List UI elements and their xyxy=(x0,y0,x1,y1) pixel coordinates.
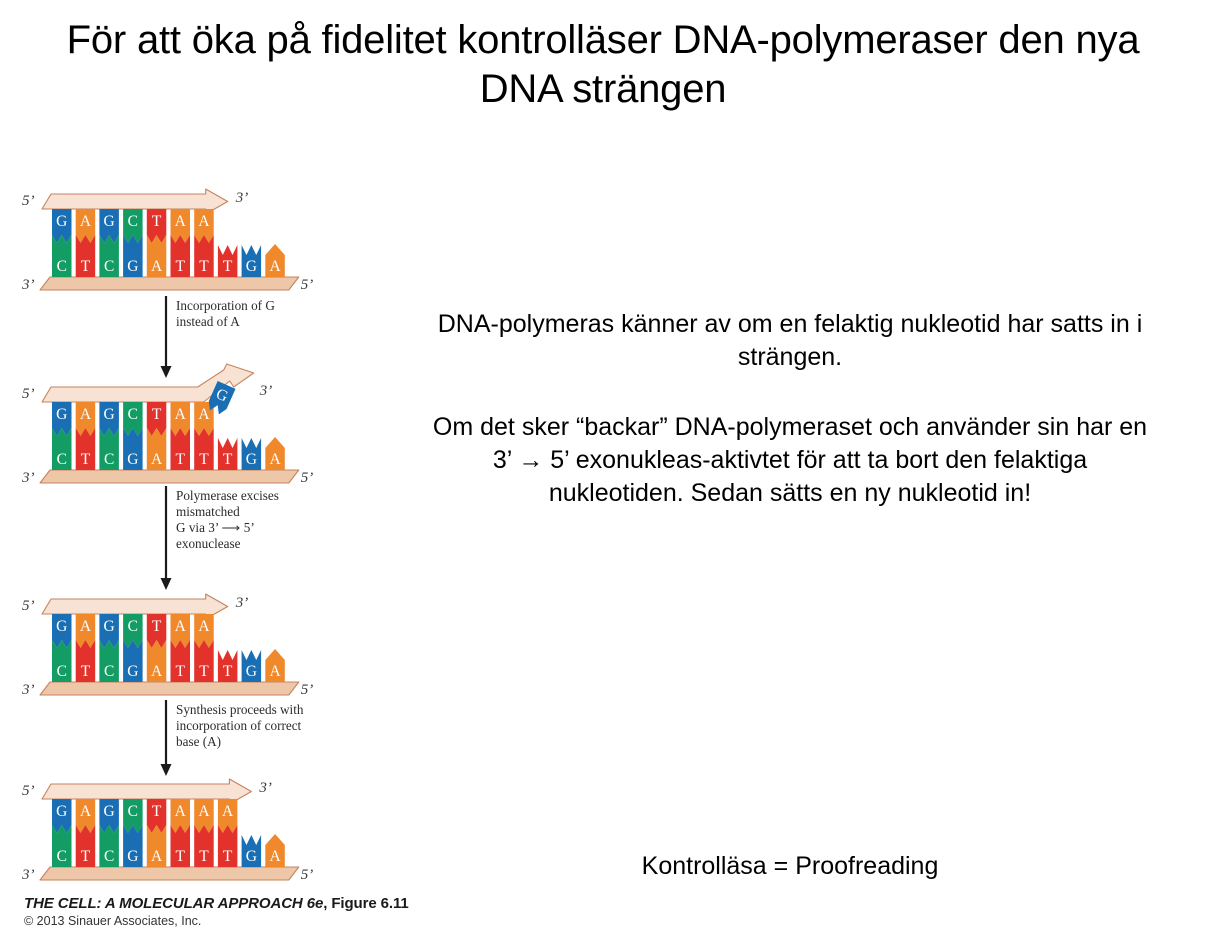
dna-base-label-a: A xyxy=(175,213,187,230)
step-arrow-head xyxy=(161,366,172,378)
dna-base-label-c: C xyxy=(104,258,114,275)
dna-base-label-a: A xyxy=(175,803,187,820)
caption-1-line-1: Incorporation of G xyxy=(176,298,275,313)
dna-base-label-a: A xyxy=(151,258,163,275)
panel-4-label-5prime-left: 5’ xyxy=(22,783,35,799)
dna-base-label-a: A xyxy=(80,618,92,635)
panel-1-label-3prime-right: 3’ xyxy=(235,190,249,206)
dna-base-label-c: C xyxy=(57,663,67,680)
dna-base-label-c: C xyxy=(57,848,67,865)
panel-1: GAGCTAACTCGATTTGA5’3’3’5’ xyxy=(21,189,313,293)
dna-base-label-g: G xyxy=(56,803,67,820)
dna-base-label-c: C xyxy=(104,848,114,865)
dna-base-label-t: T xyxy=(152,406,162,423)
step-arrow-head xyxy=(161,578,172,590)
caption-3-line-2: incorporation of correct xyxy=(176,718,302,733)
figure-credit-book: THE CELL: A MOLECULAR APPROACH 6e xyxy=(24,895,323,912)
dna-base-label-a: A xyxy=(269,451,281,468)
dna-bottom-backbone xyxy=(40,682,299,695)
panel-4-label-5prime-right: 5’ xyxy=(301,867,314,883)
dna-base-label-t: T xyxy=(152,213,162,230)
step-arrow-head xyxy=(161,764,172,776)
dna-base-label-a: A xyxy=(269,258,281,275)
dna-base-label-g: G xyxy=(246,663,257,680)
panel-2: GAGCTAACTCGATTTGAG5’3’3’5’ xyxy=(21,364,313,486)
caption-3: Synthesis proceeds withincorporation of … xyxy=(161,700,304,776)
body-text-block: DNA-polymeras känner av om en felaktig n… xyxy=(430,308,1150,510)
dna-base-label-t: T xyxy=(176,663,186,680)
panel-1-label-5prime-right: 5’ xyxy=(301,277,314,293)
body-paragraph-2: Om det sker “backar” DNA-polymeraset och… xyxy=(430,411,1150,511)
dna-base-label-c: C xyxy=(57,258,67,275)
dna-base-label-a: A xyxy=(151,451,163,468)
panel-4-label-3prime-right: 3’ xyxy=(258,780,272,796)
dna-base-label-g: G xyxy=(104,406,115,423)
dna-base-label-g: G xyxy=(127,258,138,275)
panel-2-label-5prime-right: 5’ xyxy=(301,470,314,486)
dna-base-label-a: A xyxy=(80,803,92,820)
caption-2-line-1: Polymerase excises xyxy=(176,488,279,503)
panel-2-label-5prime-left: 5’ xyxy=(22,386,35,402)
dna-proofreading-figure: GAGCTAACTCGATTTGA5’3’3’5’GAGCTAACTCGATTT… xyxy=(0,176,420,888)
panel-3-label-5prime-left: 5’ xyxy=(22,598,35,614)
dna-bottom-backbone xyxy=(40,470,299,483)
dna-base-label-t: T xyxy=(223,848,233,865)
dna-base-label-t: T xyxy=(199,451,209,468)
dna-base-label-a: A xyxy=(151,848,163,865)
panel-2-label-3prime-left: 3’ xyxy=(21,470,35,486)
dna-base-label-t: T xyxy=(152,803,162,820)
dna-base-label-a: A xyxy=(198,803,210,820)
panel-3-label-3prime-left: 3’ xyxy=(21,682,35,698)
dna-base-label-c: C xyxy=(128,618,138,635)
dna-base-label-g: G xyxy=(56,618,67,635)
panel-1-label-3prime-left: 3’ xyxy=(21,277,35,293)
panel-3: GAGCTAACTCGATTTGA5’3’3’5’ xyxy=(21,594,313,698)
dna-base-label-t: T xyxy=(176,258,186,275)
dna-base-label-a: A xyxy=(198,618,210,635)
caption-1-line-2: instead of A xyxy=(176,314,240,329)
dna-base-label-g: G xyxy=(246,451,257,468)
dna-base-label-t: T xyxy=(223,258,233,275)
caption-2-line-2: mismatched xyxy=(176,504,240,519)
dna-base-label-a: A xyxy=(80,406,92,423)
panel-3-label-3prime-right: 3’ xyxy=(235,595,249,611)
panel-1-label-5prime-left: 5’ xyxy=(22,193,35,209)
panel-2-label-3prime-right: 3’ xyxy=(259,383,273,399)
caption-3-line-3: base (A) xyxy=(176,734,221,749)
dna-base-label-g: G xyxy=(56,406,67,423)
dna-base-label-a: A xyxy=(198,213,210,230)
dna-base-label-t: T xyxy=(199,258,209,275)
panel-4: GAGCTAAACTCGATTTGA5’3’3’5’ xyxy=(21,779,313,883)
figure-credit: THE CELL: A MOLECULAR APPROACH 6e, Figur… xyxy=(24,895,494,928)
dna-base-label-a: A xyxy=(80,213,92,230)
dna-base-label-t: T xyxy=(176,451,186,468)
dna-base-label-t: T xyxy=(223,663,233,680)
proofreading-note: Kontrolläsa = Proofreading xyxy=(430,852,1150,881)
page-title: För att öka på fidelitet kontrolläser DN… xyxy=(60,16,1146,114)
dna-base-label-c: C xyxy=(104,451,114,468)
dna-base-label-a: A xyxy=(269,663,281,680)
dna-base-label-t: T xyxy=(81,663,91,680)
panel-4-label-3prime-left: 3’ xyxy=(21,867,35,883)
dna-bottom-backbone xyxy=(40,277,299,290)
dna-base-label-g: G xyxy=(104,803,115,820)
dna-base-label-c: C xyxy=(128,406,138,423)
dna-base-label-t: T xyxy=(81,848,91,865)
dna-base-label-a: A xyxy=(151,663,163,680)
dna-base-label-a: A xyxy=(269,848,281,865)
dna-base-label-c: C xyxy=(104,663,114,680)
dna-base-label-g: G xyxy=(246,258,257,275)
caption-2: Polymerase excisesmismatchedG via 3’ ⟶ 5… xyxy=(161,486,279,590)
figure-credit-title-row: THE CELL: A MOLECULAR APPROACH 6e, Figur… xyxy=(24,895,494,912)
dna-base-label-t: T xyxy=(199,848,209,865)
figure-credit-number: , Figure 6.11 xyxy=(323,895,408,912)
caption-2-line-4: exonuclease xyxy=(176,536,241,551)
panel-3-label-5prime-right: 5’ xyxy=(301,682,314,698)
caption-2-line-3: G via 3’ ⟶ 5’ xyxy=(176,520,255,535)
dna-base-label-c: C xyxy=(128,213,138,230)
dna-base-label-t: T xyxy=(81,258,91,275)
dna-base-label-a: A xyxy=(175,406,187,423)
dna-base-label-a: A xyxy=(198,406,210,423)
dna-base-label-g: G xyxy=(56,213,67,230)
dna-base-label-g: G xyxy=(104,618,115,635)
dna-base-label-g: G xyxy=(127,451,138,468)
caption-3-line-1: Synthesis proceeds with xyxy=(176,702,304,717)
dna-base-label-g: G xyxy=(104,213,115,230)
dna-base-label-g: G xyxy=(127,848,138,865)
caption-1: Incorporation of Ginstead of A xyxy=(161,296,276,378)
dna-base-label-t: T xyxy=(176,848,186,865)
dna-base-label-c: C xyxy=(128,803,138,820)
dna-base-label-t: T xyxy=(199,663,209,680)
body-paragraph-1: DNA-polymeras känner av om en felaktig n… xyxy=(430,308,1150,375)
dna-base-label-g: G xyxy=(246,848,257,865)
dna-base-label-a: A xyxy=(222,803,234,820)
dna-base-label-c: C xyxy=(57,451,67,468)
dna-base-label-t: T xyxy=(152,618,162,635)
dna-base-label-g: G xyxy=(127,663,138,680)
dna-base-label-t: T xyxy=(81,451,91,468)
figure-credit-copyright: © 2013 Sinauer Associates, Inc. xyxy=(24,914,494,928)
dna-base-label-t: T xyxy=(223,451,233,468)
dna-bottom-backbone xyxy=(40,867,299,880)
dna-figure-canvas: GAGCTAACTCGATTTGA5’3’3’5’GAGCTAACTCGATTT… xyxy=(0,176,420,888)
dna-base-label-a: A xyxy=(175,618,187,635)
